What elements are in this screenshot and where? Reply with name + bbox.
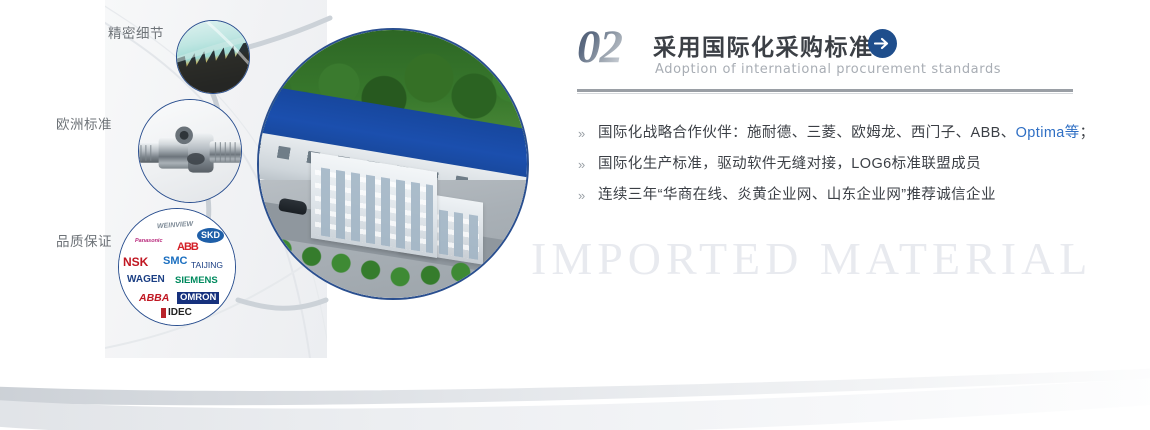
label-european-standard: 欧洲标准 [56,113,112,133]
chevron-right-icon: » [578,149,585,180]
label-precision-detail: 精密细节 [108,22,164,42]
highlight-optima: Optima等 [1016,125,1080,141]
content-column: 02 采用国际化采购标准 Adoption of international p… [576,0,1096,430]
logo-panasonic: Panasonic [135,239,163,245]
list-item: » 国际化生产标准，驱动软件无缝对接，LOG6标准联盟成员 [576,149,1096,180]
logo-wagen: WAGEN [127,275,165,285]
logo-skd: SKD [197,228,224,243]
list-item: » 国际化战略合作伙伴：施耐德、三菱、欧姆龙、西门子、ABB、Optima等； [576,118,1096,149]
watermark-text: IMPORTED MATERIAL [531,236,1092,282]
chevron-right-icon: » [578,118,585,149]
logo-abba: ABBA [139,293,169,304]
section-number: 02 [577,24,622,71]
precision-gear-closeup-photo [176,20,250,94]
chevron-right-icon: » [578,180,585,211]
section-header: 02 采用国际化采购标准 Adoption of international p… [576,26,1096,82]
feature-list: » 国际化战略合作伙伴：施耐德、三菱、欧姆龙、西门子、ABB、Optima等； … [576,118,1096,211]
logo-abb: ABB [177,242,198,253]
list-item-text: 国际化战略合作伙伴：施耐德、三菱、欧姆龙、西门子、ABB、Optima等； [598,118,1095,149]
brand-logos-collage-photo: WEINVIEW SKD Panasonic ABB NSK SMC TAIJI… [118,208,236,326]
list-item-text: 国际化生产标准，驱动软件无缝对接，LOG6标准联盟成员 [598,149,981,180]
logo-nsk: NSK [123,256,148,268]
page-subtitle: Adoption of international procurement st… [655,62,1001,77]
logo-smc: SMC [163,256,187,267]
promo-banner: 精密细节 欧洲标准 品质保证 [0,0,1150,430]
list-item: » 连续三年“华商在线、炎黄企业网、山东企业网”推荐诚信企业 [576,180,1096,211]
factory-building-aerial-photo [257,28,529,300]
page-title: 采用国际化采购标准 [653,28,874,62]
logo-idec: IDEC [161,308,192,318]
logo-siemens: SIEMENS [175,276,218,286]
arrow-right-icon[interactable] [868,29,897,58]
logo-taijing: TAIJING [191,261,223,270]
list-item-text: 连续三年“华商在线、炎黄企业网、山东企业网”推荐诚信企业 [598,180,996,211]
label-quality-assurance: 品质保证 [56,230,112,250]
logo-omron: OMRON [177,292,219,304]
ball-screw-component-photo [138,99,242,203]
header-divider [577,89,1073,94]
